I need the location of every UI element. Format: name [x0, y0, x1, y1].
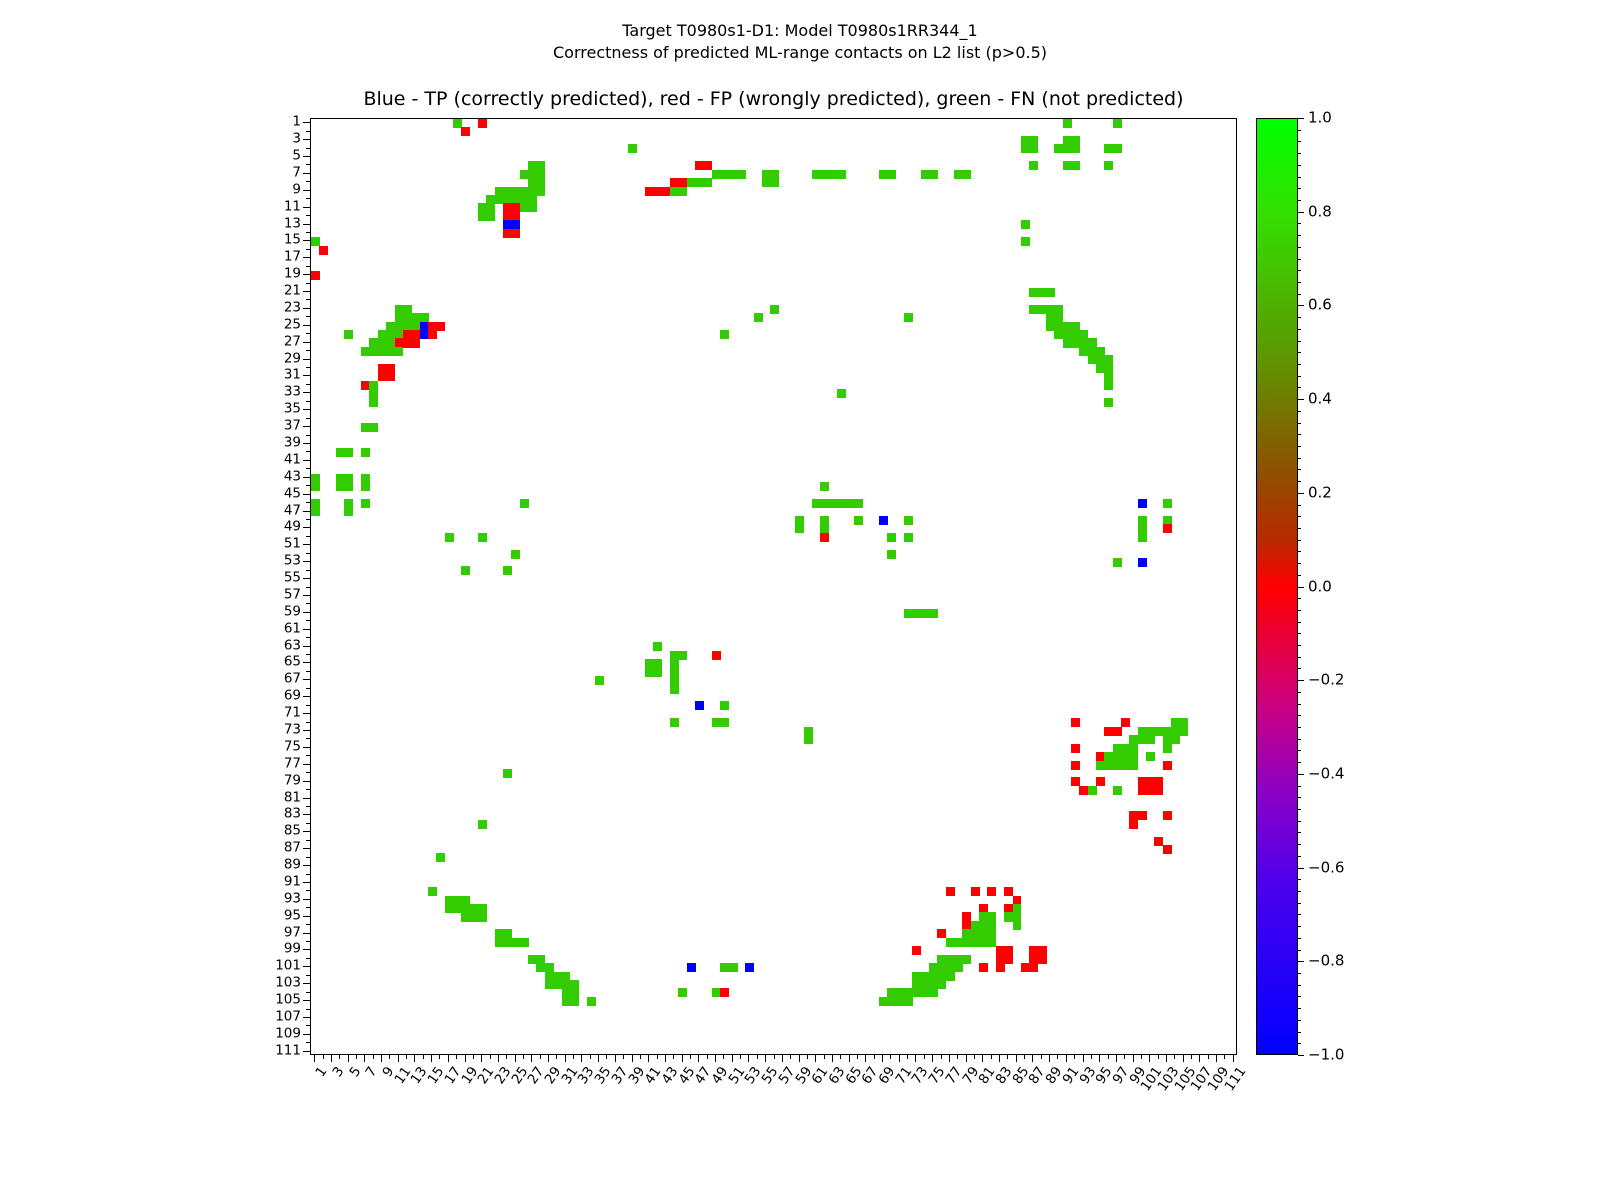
y-axis-tick-label: 3 — [292, 132, 301, 146]
x-axis-tick — [623, 1055, 624, 1059]
y-axis-tick — [306, 654, 310, 655]
colorbar-minor-tick — [1298, 715, 1301, 716]
y-axis-tick — [306, 671, 310, 672]
x-axis-tick — [373, 1055, 374, 1059]
heatmap-cell — [461, 127, 470, 136]
colorbar-minor-tick — [1298, 235, 1301, 236]
colorbar-minor-tick — [1298, 657, 1301, 658]
colorbar-minor-tick — [1298, 1020, 1301, 1021]
heatmap-cell — [904, 516, 913, 525]
heatmap-cell — [1113, 119, 1122, 128]
colorbar-minor-tick — [1298, 645, 1301, 646]
heatmap-cell — [1096, 777, 1105, 786]
y-axis-tick — [303, 426, 310, 427]
colorbar-minor-tick — [1298, 528, 1301, 529]
heatmap-cell — [687, 963, 696, 972]
y-axis-tick-label: 33 — [284, 386, 301, 400]
heatmap-cell — [946, 887, 955, 896]
y-axis-tick — [306, 890, 310, 891]
heatmap-cell — [361, 448, 370, 457]
y-axis-tick — [303, 156, 310, 157]
x-axis-tick — [882, 1055, 883, 1062]
colorbar-minor-tick — [1298, 282, 1301, 283]
x-axis-tick — [632, 1055, 633, 1062]
y-axis-tick — [303, 240, 310, 241]
y-axis-tick — [306, 1025, 310, 1026]
heatmap-cell — [745, 963, 754, 972]
colorbar-minor-tick — [1298, 165, 1301, 166]
x-axis-tick — [790, 1055, 791, 1059]
y-axis-tick-label: 107 — [275, 1010, 301, 1024]
heatmap-cell — [386, 372, 395, 381]
y-axis-tick — [303, 899, 310, 900]
heatmap-cell — [520, 938, 529, 947]
heatmap-cell — [486, 212, 495, 221]
x-axis-tick — [1191, 1055, 1192, 1059]
y-axis-tick — [303, 544, 310, 545]
x-axis-tick — [598, 1055, 599, 1062]
heatmap-cell — [1146, 735, 1155, 744]
y-axis-tick-label: 85 — [284, 825, 301, 839]
colorbar-minor-tick — [1298, 996, 1301, 997]
y-axis-tick — [303, 392, 310, 393]
colorbar-tick-label: −0.8 — [1308, 954, 1344, 969]
heatmap-cell — [1038, 955, 1047, 964]
y-axis-tick-label: 9 — [292, 183, 301, 197]
x-axis-tick — [707, 1055, 708, 1059]
y-axis-tick — [306, 249, 310, 250]
colorbar-minor-tick — [1298, 317, 1301, 318]
heatmap-cell — [1163, 761, 1172, 770]
y-axis-tick — [306, 485, 310, 486]
heatmap-cell — [1029, 963, 1038, 972]
y-axis-tick — [303, 561, 310, 562]
y-axis-tick-label: 45 — [284, 487, 301, 501]
heatmap-cell — [478, 912, 487, 921]
heatmap-cell — [996, 963, 1005, 972]
y-axis-tick — [306, 1009, 310, 1010]
heatmap-cell — [436, 322, 445, 331]
y-axis-tick-label: 69 — [284, 689, 301, 703]
colorbar-tick — [1298, 680, 1304, 681]
heatmap-cell — [461, 566, 470, 575]
x-axis-tick — [907, 1055, 908, 1059]
y-axis-tick — [306, 806, 310, 807]
y-axis-tick — [306, 637, 310, 638]
colorbar-tick — [1298, 212, 1304, 213]
x-axis-tick — [991, 1055, 992, 1059]
colorbar-minor-tick — [1298, 762, 1301, 763]
x-axis-tick — [615, 1055, 616, 1062]
y-axis-tick — [303, 882, 310, 883]
colorbar-minor-tick — [1298, 704, 1301, 705]
x-axis-tick-label: 5 — [348, 1065, 364, 1080]
plot-frame — [310, 118, 1237, 1055]
y-axis-tick-label: 109 — [275, 1027, 301, 1041]
colorbar-minor-tick — [1298, 1008, 1301, 1009]
y-axis-tick — [306, 215, 310, 216]
axes-title-legend: Blue - TP (correctly predicted), red - F… — [310, 88, 1237, 110]
heatmap-cell — [503, 566, 512, 575]
heatmap-cell — [795, 524, 804, 533]
colorbar-tick — [1298, 774, 1304, 775]
heatmap-cell — [1071, 144, 1080, 153]
heatmap-cell — [1071, 161, 1080, 170]
y-axis-tick — [303, 224, 310, 225]
x-axis-tick — [314, 1055, 315, 1062]
heatmap-cell — [887, 170, 896, 179]
y-axis-tick — [303, 1000, 310, 1001]
x-axis-tick — [865, 1055, 866, 1062]
x-axis-tick-label: 3 — [331, 1065, 347, 1080]
y-axis-tick-label: 59 — [284, 605, 301, 619]
colorbar-tick — [1298, 305, 1304, 306]
heatmap-cell — [1063, 119, 1072, 128]
y-axis-tick-label: 105 — [275, 993, 301, 1007]
heatmap-cell — [737, 170, 746, 179]
heatmap-cell — [971, 887, 980, 896]
x-axis-tick — [339, 1055, 340, 1059]
heatmap-cell — [319, 246, 328, 255]
x-axis-tick — [498, 1055, 499, 1062]
colorbar-minor-tick — [1298, 341, 1301, 342]
y-axis-tick — [306, 333, 310, 334]
x-axis-tick — [581, 1055, 582, 1062]
y-axis-tick — [303, 173, 310, 174]
y-axis-tick-label: 29 — [284, 352, 301, 366]
x-axis-tick — [1066, 1055, 1067, 1062]
heatmap-cell — [1163, 744, 1172, 753]
y-axis-tick — [303, 122, 310, 123]
heatmap-cell — [712, 651, 721, 660]
y-axis-tick — [303, 798, 310, 799]
x-axis-tick — [824, 1055, 825, 1059]
heatmap-cell — [929, 609, 938, 618]
y-axis-tick — [306, 924, 310, 925]
colorbar-minor-tick — [1298, 259, 1301, 260]
colorbar-minor-tick — [1298, 200, 1301, 201]
y-axis-tick — [306, 384, 310, 385]
colorbar-minor-tick — [1298, 329, 1301, 330]
heatmap-cell — [344, 482, 353, 491]
y-axis-tick — [306, 620, 310, 621]
y-axis-tick — [303, 933, 310, 934]
y-axis-tick — [303, 527, 310, 528]
heatmap-cell — [1163, 524, 1172, 533]
colorbar-minor-tick — [1298, 188, 1301, 189]
y-axis-tick — [303, 1034, 310, 1035]
y-axis-tick-label: 93 — [284, 892, 301, 906]
x-axis-tick — [1133, 1055, 1134, 1062]
y-axis-tick — [303, 291, 310, 292]
x-axis-tick — [323, 1055, 324, 1059]
colorbar-tick-label: 0.4 — [1308, 392, 1332, 407]
x-axis-tick-label: 1 — [314, 1065, 330, 1080]
y-axis-tick — [306, 738, 310, 739]
heatmap-cell — [1029, 144, 1038, 153]
x-axis-tick — [765, 1055, 766, 1062]
heatmap-cell — [511, 229, 520, 238]
heatmap-cell — [720, 988, 729, 997]
heatmap-cell — [879, 516, 888, 525]
y-axis-tick-label: 5 — [292, 149, 301, 163]
colorbar-minor-tick — [1298, 809, 1301, 810]
heatmap-cell — [311, 271, 320, 280]
heatmap-cell — [1121, 718, 1130, 727]
x-axis-tick — [490, 1055, 491, 1059]
y-axis-tick — [306, 722, 310, 723]
colorbar-minor-tick — [1298, 610, 1301, 611]
x-axis-tick — [1108, 1055, 1109, 1059]
x-axis-tick — [364, 1055, 365, 1062]
x-axis-tick — [1024, 1055, 1025, 1059]
y-axis-tick — [303, 730, 310, 731]
colorbar-minor-tick — [1298, 223, 1301, 224]
x-axis-tick — [590, 1055, 591, 1059]
heatmap-cell — [311, 507, 320, 516]
y-axis-tick — [303, 646, 310, 647]
suptitle-line-1: Target T0980s1-D1: Model T0980s1RR344_1 — [0, 20, 1600, 42]
heatmap-cell — [946, 972, 955, 981]
y-axis-tick-label: 1 — [292, 115, 301, 129]
y-axis-tick — [303, 494, 310, 495]
colorbar-minor-tick — [1298, 481, 1301, 482]
colorbar-tick — [1298, 1055, 1304, 1056]
y-axis-tick-label: 7 — [292, 166, 301, 180]
heatmap-cell — [1113, 727, 1122, 736]
y-axis-tick-label: 35 — [284, 402, 301, 416]
colorbar-minor-tick — [1298, 797, 1301, 798]
x-axis-tick — [1074, 1055, 1075, 1059]
heatmap-cell — [678, 187, 687, 196]
x-axis-tick — [715, 1055, 716, 1062]
colorbar-minor-tick — [1298, 423, 1301, 424]
colorbar-minor-tick — [1298, 387, 1301, 388]
colorbar-minor-tick — [1298, 879, 1301, 880]
x-axis-tick — [1149, 1055, 1150, 1062]
x-axis-tick — [506, 1055, 507, 1059]
y-axis-tick — [306, 232, 310, 233]
y-axis-tick — [303, 764, 310, 765]
x-axis-tick — [1158, 1055, 1159, 1059]
colorbar-minor-tick — [1298, 950, 1301, 951]
colorbar-minor-tick — [1298, 294, 1301, 295]
y-axis-tick — [306, 840, 310, 841]
y-axis-tick — [306, 148, 310, 149]
heatmap-cell — [1021, 220, 1030, 229]
y-axis-tick — [303, 629, 310, 630]
y-axis-tick — [306, 587, 310, 588]
colorbar-tick — [1298, 118, 1304, 119]
heatmap-cell — [1163, 499, 1172, 508]
y-axis-tick-label: 77 — [284, 757, 301, 771]
y-axis-tick — [303, 848, 310, 849]
y-axis-tick-label: 97 — [284, 926, 301, 940]
colorbar-gradient — [1256, 118, 1298, 1055]
x-axis-tick — [565, 1055, 566, 1062]
heatmap-cell — [536, 187, 545, 196]
heatmap-cell — [411, 338, 420, 347]
y-axis-tick — [306, 468, 310, 469]
y-axis-tick-label: 47 — [284, 504, 301, 518]
colorbar-minor-tick — [1298, 985, 1301, 986]
x-axis-tick — [465, 1055, 466, 1062]
y-axis-tick-label: 55 — [284, 571, 301, 585]
y-axis-tick — [303, 679, 310, 680]
x-axis-tick — [515, 1055, 516, 1062]
y-axis-tick — [306, 536, 310, 537]
colorbar-minor-tick — [1298, 1032, 1301, 1033]
x-axis-tick — [606, 1055, 607, 1059]
x-axis-tick — [815, 1055, 816, 1062]
x-axis-tick — [356, 1055, 357, 1059]
colorbar-minor-tick — [1298, 505, 1301, 506]
colorbar-minor-tick — [1298, 727, 1301, 728]
y-axis-tick — [303, 1051, 310, 1052]
y-axis-tick — [306, 519, 310, 520]
y-axis-tick-label: 13 — [284, 217, 301, 231]
heatmap-cell — [478, 119, 487, 128]
colorbar-minor-tick — [1298, 516, 1301, 517]
colorbar-tick-label: −0.6 — [1308, 860, 1344, 875]
y-axis-tick — [306, 350, 310, 351]
x-axis-tick — [1233, 1055, 1234, 1062]
heatmap-cell — [344, 448, 353, 457]
y-axis-tick — [303, 274, 310, 275]
y-axis-tick — [303, 359, 310, 360]
heatmap-cell — [570, 997, 579, 1006]
y-axis-tick — [306, 857, 310, 858]
y-axis-tick — [306, 941, 310, 942]
x-axis-tick — [1141, 1055, 1142, 1059]
colorbar-minor-tick — [1298, 434, 1301, 435]
heatmap-cell — [729, 963, 738, 972]
colorbar-tick-label: −1.0 — [1308, 1048, 1344, 1063]
heatmap-cell — [628, 144, 637, 153]
figure-suptitle: Target T0980s1-D1: Model T0980s1RR344_1 … — [0, 20, 1600, 64]
heatmap-cell — [804, 735, 813, 744]
x-axis-tick — [556, 1055, 557, 1059]
colorbar-tick-label: 0.2 — [1308, 485, 1332, 500]
colorbar-minor-tick — [1298, 130, 1301, 131]
suptitle-line-2: Correctness of predicted ML-range contac… — [0, 42, 1600, 64]
x-axis-tick — [1057, 1055, 1058, 1059]
heatmap-cell — [754, 313, 763, 322]
colorbar-minor-tick — [1298, 692, 1301, 693]
y-axis-tick — [303, 511, 310, 512]
y-axis-tick — [303, 190, 310, 191]
heatmap-cell — [369, 423, 378, 432]
y-axis-tick — [306, 451, 310, 452]
heatmap-cell — [720, 701, 729, 710]
colorbar-minor-tick — [1298, 575, 1301, 576]
x-axis-tick — [774, 1055, 775, 1059]
y-axis-tick — [306, 198, 310, 199]
heatmap-cell — [670, 718, 679, 727]
x-axis-tick — [941, 1055, 942, 1059]
heatmap-cells — [311, 119, 1236, 1054]
colorbar-minor-tick — [1298, 247, 1301, 248]
x-axis-tick — [799, 1055, 800, 1062]
y-axis-tick — [306, 755, 310, 756]
heatmap-cell — [854, 499, 863, 508]
x-axis-tick — [682, 1055, 683, 1062]
colorbar-tick — [1298, 961, 1304, 962]
heatmap-cell — [962, 170, 971, 179]
y-axis-tick — [303, 477, 310, 478]
colorbar-minor-tick — [1298, 938, 1301, 939]
x-axis-tick — [523, 1055, 524, 1059]
y-axis-tick — [303, 696, 310, 697]
y-axis-tick — [306, 266, 310, 267]
y-axis-tick — [303, 257, 310, 258]
y-axis-tick-label: 73 — [284, 723, 301, 737]
colorbar: −1.0−0.8−0.6−0.4−0.20.00.20.40.60.81.0 — [1256, 118, 1298, 1055]
y-axis-tick — [306, 1042, 310, 1043]
y-axis-tick — [303, 983, 310, 984]
y-axis-tick — [303, 578, 310, 579]
x-axis-tick — [439, 1055, 440, 1059]
x-axis-tick — [1199, 1055, 1200, 1062]
y-axis-tick — [303, 949, 310, 950]
colorbar-minor-tick — [1298, 1043, 1301, 1044]
x-axis-tick — [1049, 1055, 1050, 1062]
y-axis-tick — [306, 975, 310, 976]
colorbar-minor-tick — [1298, 832, 1301, 833]
y-axis-tick — [303, 207, 310, 208]
colorbar-minor-tick — [1298, 177, 1301, 178]
y-axis-tick-label: 25 — [284, 318, 301, 332]
colorbar-minor-tick — [1298, 446, 1301, 447]
heatmap-cell — [937, 980, 946, 989]
y-axis-tick — [303, 831, 310, 832]
x-axis-tick — [857, 1055, 858, 1059]
colorbar-minor-tick — [1298, 352, 1301, 353]
x-axis-tick — [1224, 1055, 1225, 1059]
x-axis-tick — [899, 1055, 900, 1062]
heatmap-cell — [395, 347, 404, 356]
y-axis-tick — [303, 409, 310, 410]
heatmap-cell — [954, 963, 963, 972]
heatmap-cell — [678, 988, 687, 997]
x-axis-tick — [456, 1055, 457, 1059]
colorbar-minor-tick — [1298, 270, 1301, 271]
colorbar-tick-label: −0.2 — [1308, 673, 1344, 688]
x-axis-tick — [473, 1055, 474, 1059]
colorbar-minor-tick — [1298, 469, 1301, 470]
y-axis-tick — [306, 131, 310, 132]
heatmap-cell — [770, 305, 779, 314]
x-axis-tick — [982, 1055, 983, 1062]
y-axis-tick — [303, 713, 310, 714]
y-axis-tick — [306, 688, 310, 689]
heatmap-cell — [904, 533, 913, 542]
y-axis-tick — [306, 772, 310, 773]
y-axis-tick — [306, 958, 310, 959]
heatmap-cell — [979, 963, 988, 972]
y-axis-tick — [303, 308, 310, 309]
x-axis-tick — [757, 1055, 758, 1059]
x-axis-tick — [665, 1055, 666, 1062]
colorbar-minor-tick — [1298, 141, 1301, 142]
heatmap-cell — [904, 313, 913, 322]
y-axis-tick-label: 17 — [284, 251, 301, 265]
heatmap-cell — [528, 203, 537, 212]
heatmap-cell — [344, 330, 353, 339]
y-axis-tick — [306, 502, 310, 503]
heatmap-cell — [1163, 845, 1172, 854]
colorbar-tick-label: 0.8 — [1308, 204, 1332, 219]
